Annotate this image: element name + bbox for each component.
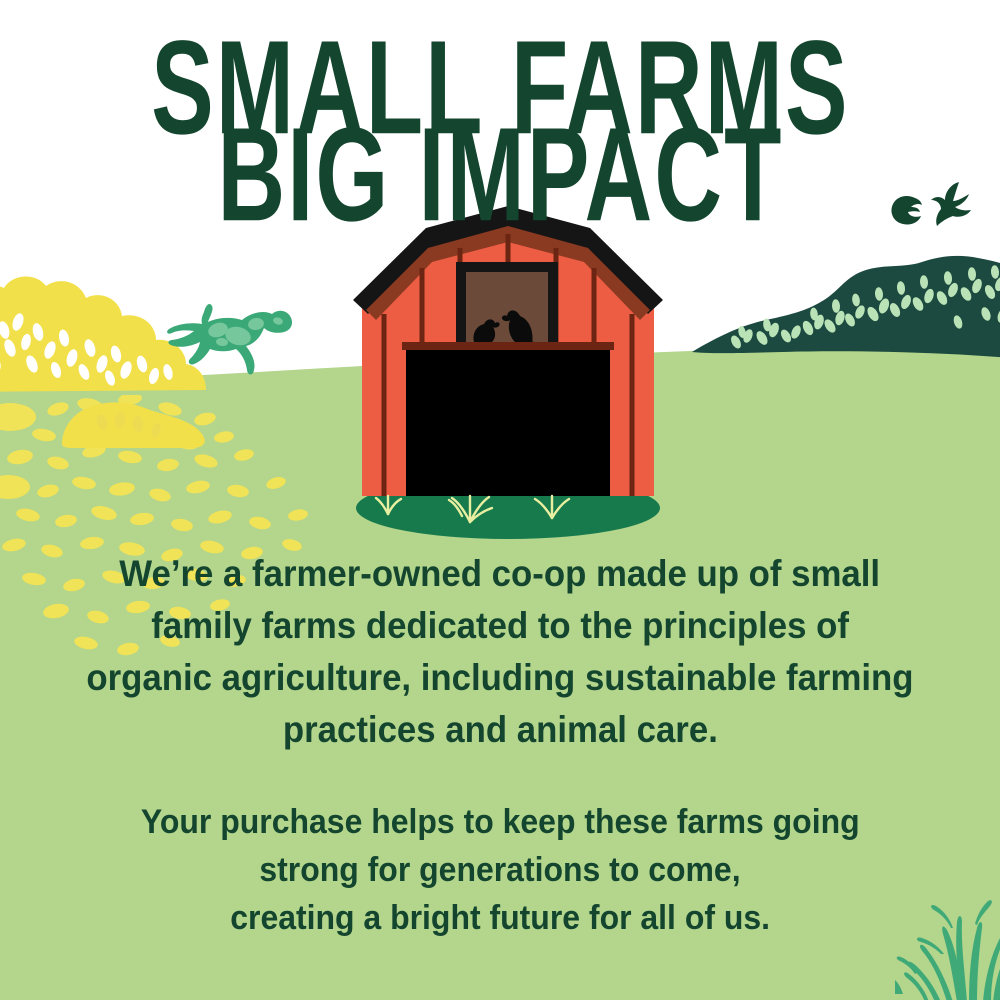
barn-door-header — [402, 342, 614, 350]
yellow-mound — [58, 392, 208, 452]
paragraph2-line3: creating a bright future for all of us. — [40, 894, 960, 942]
paragraph2-line2: strong for generations to come, — [40, 846, 960, 894]
headline-line-1: SMALL FARMS — [0, 26, 1000, 113]
page-title: SMALL FARMS BIG IMPACT — [0, 26, 1000, 201]
headline-line-2: BIG IMPACT — [0, 113, 1000, 200]
paragraph1-line1: We’re a farmer-owned co-op made up of sm… — [40, 548, 960, 600]
body-paragraph-1: We’re a farmer-owned co-op made up of sm… — [40, 548, 960, 756]
paragraph1-line4: practices and animal care. — [40, 704, 960, 756]
poster-canvas: SMALL FARMS BIG IMPACT We’re a farmer-ow… — [0, 0, 1000, 1000]
paragraph2-line1: Your purchase helps to keep these farms … — [40, 798, 960, 846]
foliage-hill — [690, 240, 1000, 400]
paragraph1-line2: family farms dedicated to the principles… — [40, 600, 960, 652]
leaping-cow — [160, 300, 300, 380]
barn-door-opening — [406, 348, 610, 496]
paragraph1-line3: organic agriculture, including sustainab… — [40, 652, 960, 704]
body-paragraph-2: Your purchase helps to keep these farms … — [40, 798, 960, 942]
